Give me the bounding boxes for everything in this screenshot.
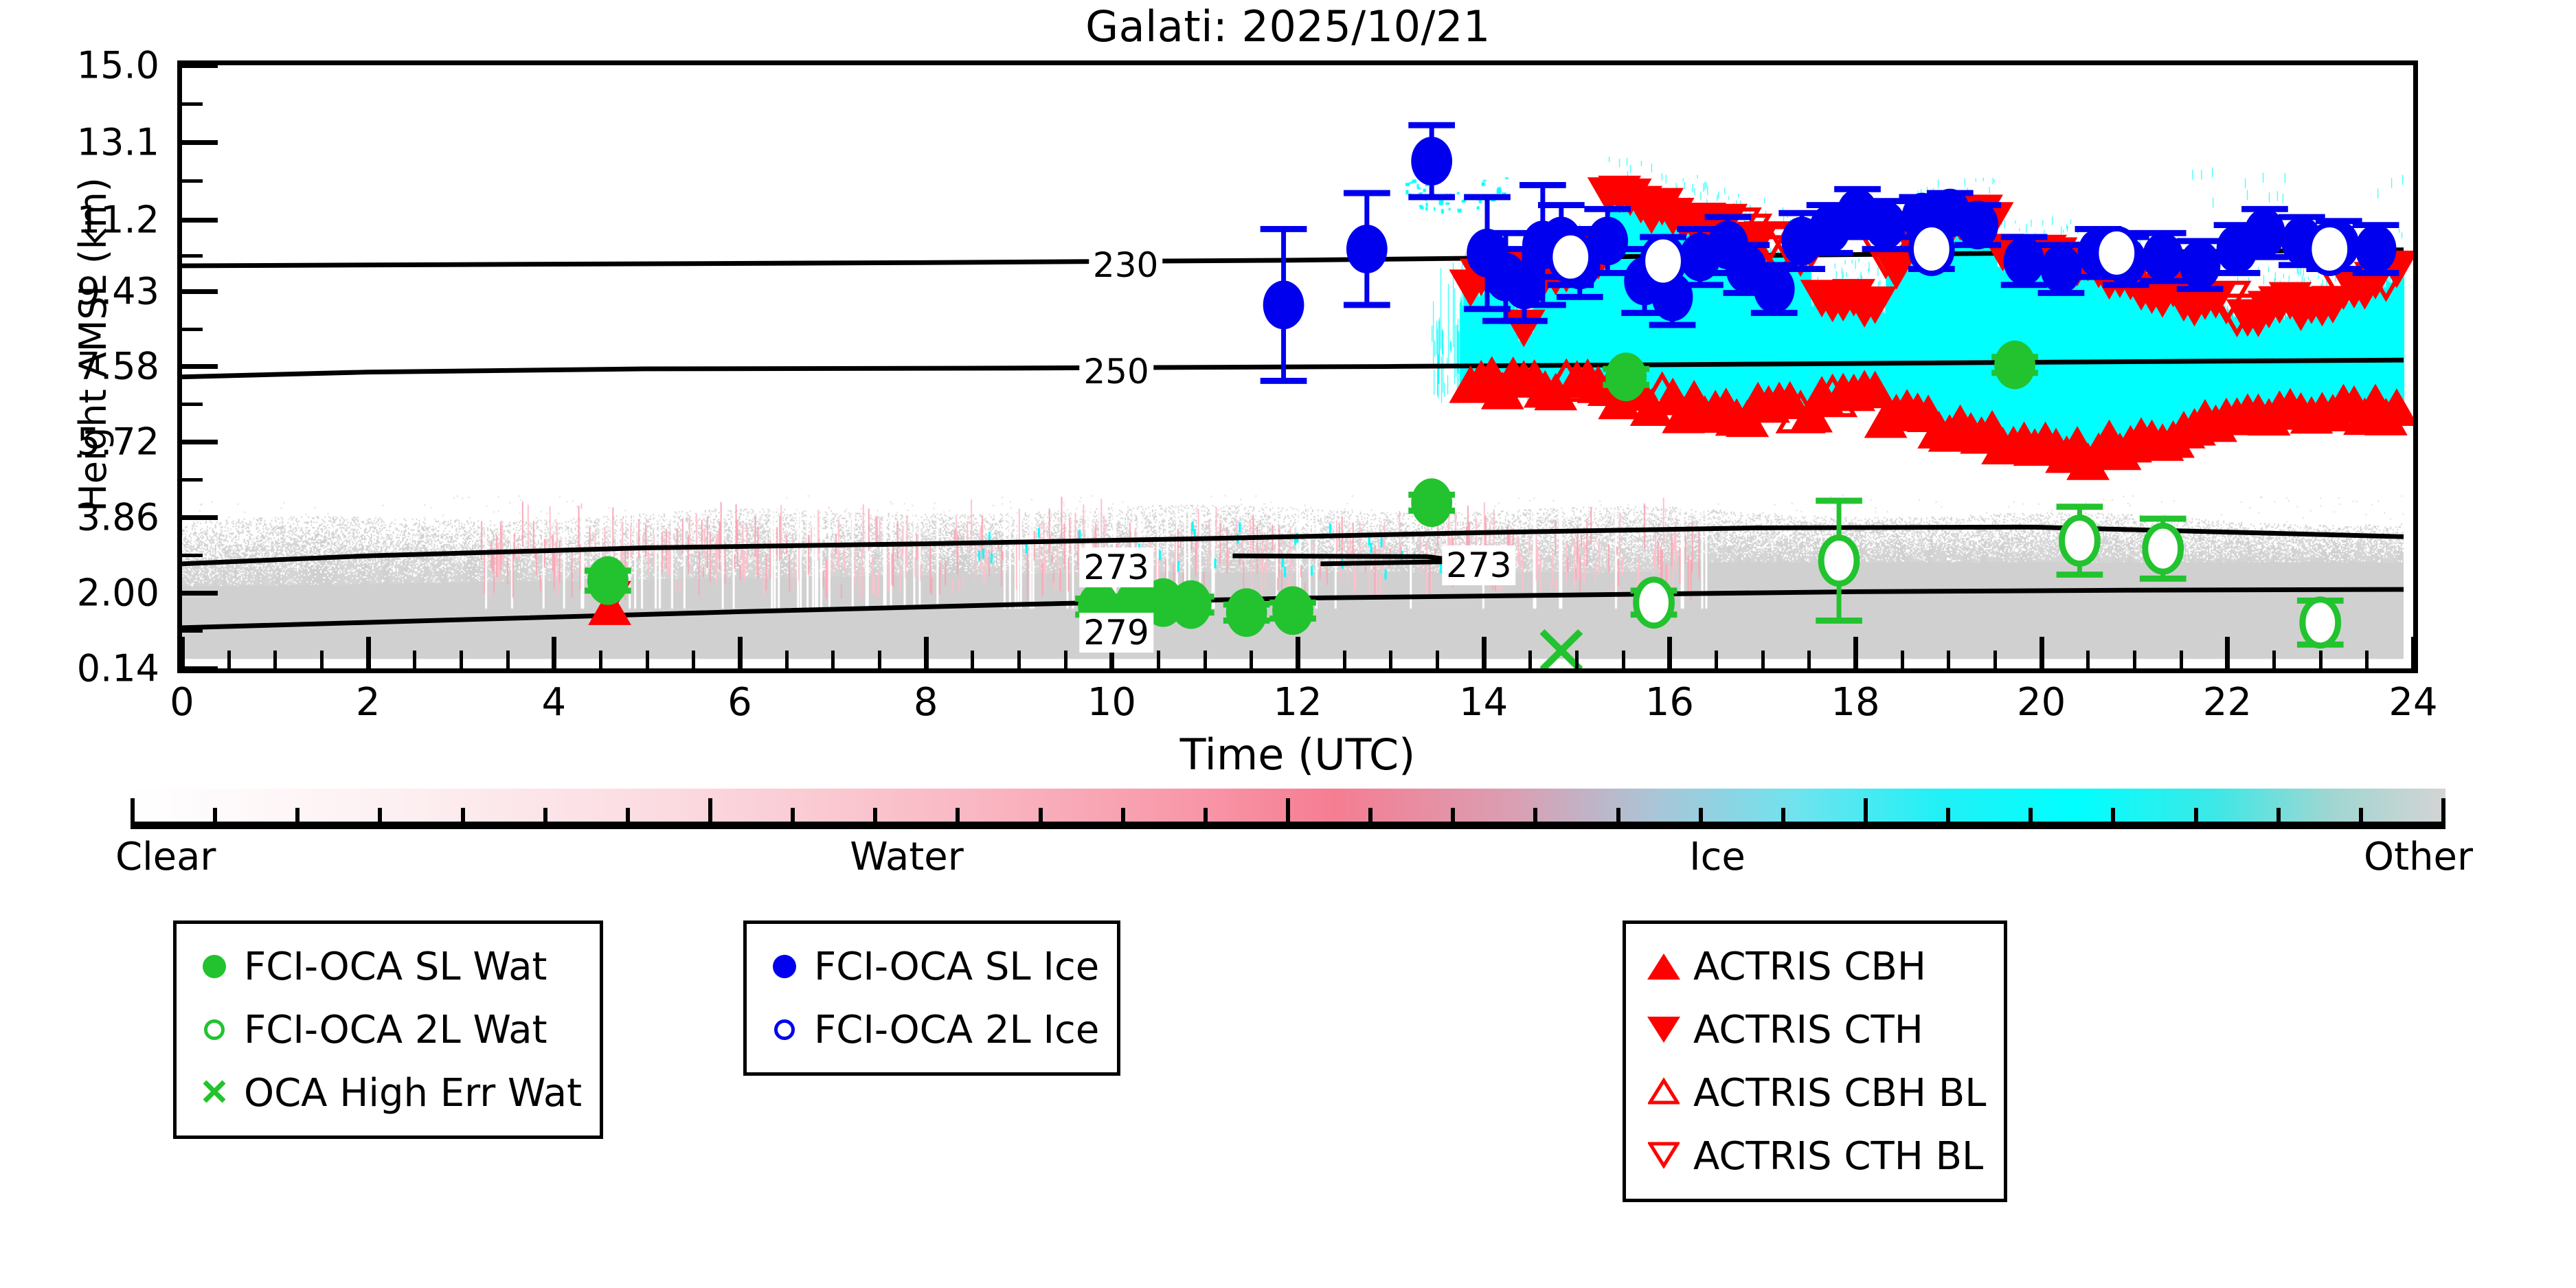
fci-oca-2l-ice-marker xyxy=(2309,225,2350,273)
colorbar-tick xyxy=(1616,808,1620,822)
fci-oca-2l-wat-marker xyxy=(1821,538,1857,584)
colorbar-tick xyxy=(1121,808,1125,822)
plot-inner: 230250273273279 xyxy=(182,65,2413,668)
open-circle-icon xyxy=(189,1006,240,1054)
y-axis-tick xyxy=(182,440,218,444)
x-tick-label: 12 xyxy=(1273,680,1322,725)
colorbar-labels: ClearWaterIceOther xyxy=(0,835,2576,883)
x-axis-minor-tick xyxy=(878,651,881,668)
open-triangle-down-icon xyxy=(1638,1132,1689,1180)
colorbar-tick xyxy=(1699,808,1703,822)
y-tick-label: 2.00 xyxy=(77,572,159,615)
x-axis-minor-tick xyxy=(599,651,602,668)
x-axis-minor-tick xyxy=(1250,651,1253,668)
fci-oca-2l-ice-marker xyxy=(1911,225,1952,273)
colorbar-tick xyxy=(1286,798,1290,822)
fci-oca-sl-ice-marker xyxy=(1411,137,1452,185)
legend-item-label: ACTRIS CTH xyxy=(1693,1008,1923,1052)
legend-item-fci-oca-2l-ice[interactable]: FCI-OCA 2L Ice xyxy=(759,998,1099,1061)
colorbar-tick xyxy=(956,808,960,822)
marker-glyph xyxy=(773,955,796,978)
x-axis-title: Time (UTC) xyxy=(177,730,2418,780)
fci-oca-sl-wat-marker xyxy=(1994,341,2035,389)
x-axis-tick xyxy=(924,637,929,668)
y-axis-minor-tick xyxy=(182,328,203,331)
isotherm-label-279: 279 xyxy=(1079,613,1153,653)
colorbar-tick xyxy=(131,798,135,822)
x-axis-tick xyxy=(2040,637,2044,668)
fci-oca-sl-wat-marker xyxy=(1411,478,1452,527)
colorbar-tick xyxy=(213,808,217,822)
y-axis-minor-tick xyxy=(182,629,203,633)
colorbar-tick xyxy=(2276,808,2281,822)
x-tick-label: 6 xyxy=(727,680,752,725)
legend-item-actris-cth-bl[interactable]: ACTRIS CTH BL xyxy=(1638,1125,1986,1188)
actris-legend: ACTRIS CBHACTRIS CTHACTRIS CBH BLACTRIS … xyxy=(1623,920,2007,1202)
x-axis-minor-tick xyxy=(273,651,277,668)
x-tick-label: 22 xyxy=(2203,680,2252,725)
y-axis-tick xyxy=(182,515,218,520)
colorbar-tick xyxy=(2441,798,2445,822)
x-axis-minor-tick xyxy=(1807,651,1811,668)
x-axis-tick xyxy=(1296,637,1300,668)
x-axis-minor-tick xyxy=(1204,651,1207,668)
x-axis-minor-tick xyxy=(785,651,789,668)
x-tick-label: 24 xyxy=(2388,680,2437,725)
fci-oca-sl-wat-marker xyxy=(1226,588,1267,637)
fci-oca-2l-ice-marker xyxy=(1642,237,1684,286)
fci-oca-sl-ice-marker xyxy=(1865,201,1906,249)
x-axis-minor-tick xyxy=(506,651,510,668)
y-axis-tick xyxy=(182,666,218,671)
y-axis-minor-tick xyxy=(182,254,203,258)
y-tick-label: 0.14 xyxy=(77,647,159,690)
x-axis-minor-tick xyxy=(1715,651,1718,668)
colorbar-tick xyxy=(626,808,630,822)
colorbar-tick xyxy=(1533,808,1537,822)
legend-item-label: ACTRIS CBH BL xyxy=(1693,1071,1986,1116)
fci-oca-sl-ice-marker xyxy=(1957,201,1998,249)
legend-item-label: FCI-OCA 2L Wat xyxy=(244,1008,547,1052)
x-axis-minor-tick xyxy=(1622,651,1625,668)
x-axis-minor-tick xyxy=(1017,651,1021,668)
marker-glyph xyxy=(204,1019,225,1040)
filled-circle-icon xyxy=(759,942,810,991)
marker-glyph xyxy=(203,955,226,978)
x-axis-minor-tick xyxy=(1436,651,1439,668)
x-axis-minor-tick xyxy=(1993,651,1997,668)
x-axis-minor-tick xyxy=(413,651,416,668)
triangle-down-icon xyxy=(1638,1006,1689,1054)
x-axis-minor-tick xyxy=(2180,651,2183,668)
y-axis-tick xyxy=(182,591,218,596)
fci-oca-sl-ice-marker xyxy=(2355,225,2397,273)
fci-oca-sl-ice-marker xyxy=(1346,225,1388,273)
colorbar-tick xyxy=(2111,808,2115,822)
y-tick-label: 15.0 xyxy=(77,44,159,87)
fci-oca-2l-wat-marker xyxy=(1636,580,1672,626)
x-axis-minor-tick xyxy=(1761,651,1765,668)
isotherm-line-250 xyxy=(182,360,2404,377)
legend-item-label: ACTRIS CTH BL xyxy=(1693,1134,1983,1179)
legend-item-fci-oca-sl-ice[interactable]: FCI-OCA SL Ice xyxy=(759,935,1099,998)
fci-oca-2l-wat-marker xyxy=(2303,600,2338,646)
x-axis-minor-tick xyxy=(646,651,649,668)
marker-glyph xyxy=(774,1019,795,1040)
x-axis-minor-tick xyxy=(831,651,835,668)
filled-circle-icon xyxy=(189,942,240,991)
x-axis-tick xyxy=(1667,637,1672,668)
x-axis-minor-tick xyxy=(1947,651,1950,668)
colorbar-label-clear: Clear xyxy=(115,835,216,879)
x-axis-minor-tick xyxy=(1157,651,1160,668)
x-tick-label: 8 xyxy=(914,680,938,725)
legend-item-fci-oca-2l-wat[interactable]: FCI-OCA 2L Wat xyxy=(189,998,582,1061)
x-axis-tick xyxy=(552,637,556,668)
colorbar-tick xyxy=(708,798,712,822)
colorbar-label-other: Other xyxy=(2364,835,2473,879)
x-axis-tick xyxy=(738,637,743,668)
x-axis-minor-tick xyxy=(1901,651,1904,668)
x-axis-minor-tick xyxy=(227,651,231,668)
y-axis-minor-tick xyxy=(182,179,203,183)
page-title: Galati: 2025/10/21 xyxy=(0,1,2576,52)
x-axis-minor-tick xyxy=(460,651,463,668)
fci-oca-sl-wat-marker xyxy=(1605,352,1647,401)
legend-item-label: FCI-OCA SL Ice xyxy=(814,945,1099,989)
colorbar-tick xyxy=(543,808,547,822)
colorbar-tick xyxy=(2194,808,2198,822)
colorbar-tick xyxy=(295,808,300,822)
x-tick-label: 18 xyxy=(1831,680,1879,725)
cross-icon xyxy=(189,1069,240,1117)
marker-glyph xyxy=(1648,1077,1680,1109)
fci-oca-sl-wat-marker xyxy=(1272,586,1313,635)
fci-oca-2l-wat-marker xyxy=(2062,518,2098,564)
open-triangle-up-icon xyxy=(1638,1069,1689,1117)
colorbar-tick xyxy=(1368,808,1372,822)
x-axis-minor-tick xyxy=(1064,651,1067,668)
data-overlay xyxy=(182,65,2413,668)
legend-item-label: ACTRIS CBH xyxy=(1693,945,1926,989)
plot-area[interactable]: 230250273273279 xyxy=(177,60,2418,673)
colorbar-tick xyxy=(1039,808,1043,822)
colorbar-label-ice: Ice xyxy=(1689,835,1745,879)
fci-oca-sl-ice-marker xyxy=(2180,240,2221,289)
colorbar-tick xyxy=(1946,808,1950,822)
isotherm-label-250: 250 xyxy=(1079,352,1153,392)
fci-oca-sl-wat-marker xyxy=(587,556,629,605)
x-axis-minor-tick xyxy=(2272,651,2276,668)
x-tick-label: 4 xyxy=(542,680,567,725)
water-legend: FCI-OCA SL WatFCI-OCA 2L WatOCA High Err… xyxy=(173,920,603,1139)
legend-item-actris-cbh-bl[interactable]: ACTRIS CBH BL xyxy=(1638,1061,1986,1125)
x-axis-minor-tick xyxy=(2319,651,2323,668)
y-axis-minor-tick xyxy=(182,102,203,106)
y-axis-tick xyxy=(182,63,218,68)
legend-item-label: FCI-OCA SL Wat xyxy=(244,945,547,989)
colorbar-tick xyxy=(1204,808,1208,822)
colorbar-tick xyxy=(461,808,465,822)
colorbar-tick xyxy=(1781,808,1785,822)
x-axis-minor-tick xyxy=(1343,651,1346,668)
legend-item-actris-cbh[interactable]: ACTRIS CBH xyxy=(1638,935,1986,998)
fci-oca-2l-ice-marker xyxy=(2096,229,2137,278)
x-axis-minor-tick xyxy=(971,651,974,668)
x-axis-minor-tick xyxy=(1575,651,1579,668)
x-axis-tick xyxy=(180,637,185,668)
colorbar xyxy=(131,789,2445,830)
y-axis-title: Height AMSL (km) xyxy=(71,177,115,512)
colorbar-tick xyxy=(2359,808,2363,822)
fci-oca-2l-ice-marker xyxy=(1550,233,1591,282)
open-circle-icon xyxy=(759,1006,810,1054)
legend-item-oca-high-err-wat[interactable]: OCA High Err Wat xyxy=(189,1061,582,1125)
colorbar-tick xyxy=(378,808,382,822)
x-axis-minor-tick xyxy=(2133,651,2136,668)
x-tick-label: 14 xyxy=(1459,680,1508,725)
x-axis-minor-tick xyxy=(1528,651,1532,668)
colorbar-tick xyxy=(2029,808,2033,822)
colorbar-tick xyxy=(1864,798,1868,822)
isotherm-label-230: 230 xyxy=(1089,245,1162,285)
colorbar-axis-line xyxy=(131,822,2445,829)
y-axis-minor-tick xyxy=(182,403,203,406)
marker-glyph xyxy=(1647,953,1680,980)
x-tick-label: 2 xyxy=(356,680,381,725)
y-axis-minor-tick xyxy=(182,478,203,482)
colorbar-tick xyxy=(873,808,877,822)
marker-glyph xyxy=(1648,1140,1680,1173)
x-axis-tick xyxy=(2411,637,2416,668)
y-axis-tick xyxy=(182,218,218,223)
y-axis-tick xyxy=(182,289,218,294)
legend-item-actris-cth[interactable]: ACTRIS CTH xyxy=(1638,998,1986,1061)
y-axis-minor-tick xyxy=(182,554,203,557)
isotherm-label-273: 273 xyxy=(1079,547,1153,587)
colorbar-label-water: Water xyxy=(850,835,964,879)
fci-oca-sl-ice-marker xyxy=(1263,281,1304,330)
isotherm-label-273: 273 xyxy=(1442,545,1515,585)
isotherm-line-273-branch xyxy=(1232,556,1464,564)
x-axis-minor-tick xyxy=(1389,651,1392,668)
x-axis-tick xyxy=(366,637,371,668)
x-axis-minor-tick xyxy=(320,651,324,668)
legend-item-label: OCA High Err Wat xyxy=(244,1071,582,1116)
legend-item-fci-oca-sl-wat[interactable]: FCI-OCA SL Wat xyxy=(189,935,582,998)
x-tick-label: 0 xyxy=(170,680,194,725)
x-axis-tick xyxy=(1482,637,1487,668)
y-axis-tick xyxy=(182,140,218,145)
x-tick-label: 10 xyxy=(1087,680,1136,725)
fci-oca-2l-wat-marker xyxy=(2145,526,2181,572)
colorbar-tick xyxy=(1451,808,1455,822)
fci-oca-sl-ice-marker xyxy=(2041,245,2082,293)
ice-legend: FCI-OCA SL IceFCI-OCA 2L Ice xyxy=(743,920,1120,1076)
x-tick-label: 16 xyxy=(1645,680,1694,725)
y-axis-tick xyxy=(182,364,218,369)
colorbar-tick xyxy=(791,808,795,822)
x-axis-minor-tick xyxy=(2086,651,2090,668)
marker-glyph xyxy=(201,1078,228,1109)
x-axis-tick xyxy=(2225,637,2230,668)
x-axis-tick xyxy=(1853,637,1858,668)
marker-glyph xyxy=(1647,1017,1680,1043)
fci-oca-sl-wat-marker xyxy=(1171,580,1212,629)
x-tick-label: 20 xyxy=(2017,680,2066,725)
x-axis-minor-tick xyxy=(2365,651,2369,668)
triangle-up-icon xyxy=(1638,942,1689,991)
x-axis-minor-tick xyxy=(692,651,695,668)
legend-item-label: FCI-OCA 2L Ice xyxy=(814,1008,1099,1052)
y-tick-label: 13.1 xyxy=(77,121,159,164)
